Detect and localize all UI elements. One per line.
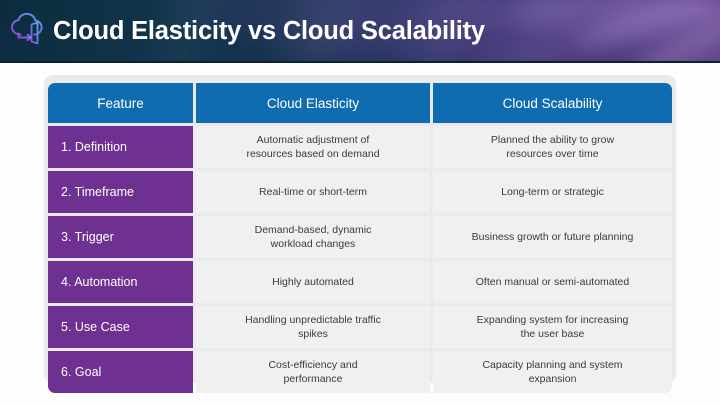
table-row: 1. Definition Automatic adjustment of re…	[48, 126, 672, 168]
table-row: 4. Automation Highly automated Often man…	[48, 261, 672, 303]
row-elasticity-value: Handling unpredictable traffic spikes	[196, 306, 430, 348]
text-line: Handling unpredictable traffic	[245, 313, 381, 327]
row-elasticity-value: Cost-efficiency and performance	[196, 351, 430, 393]
text-line: Cost-efficiency and	[268, 358, 357, 372]
text-line: Automatic adjustment of	[246, 133, 379, 147]
text-line: expansion	[482, 372, 622, 386]
column-header-scalability: Cloud Scalability	[433, 83, 672, 123]
column-header-elasticity: Cloud Elasticity	[196, 83, 430, 123]
table-row: 5. Use Case Handling unpredictable traff…	[48, 306, 672, 348]
page-title: Cloud Elasticity vs Cloud Scalability	[53, 12, 485, 50]
text-line: performance	[268, 372, 357, 386]
text-line: Real-time or short-term	[259, 185, 367, 199]
text-line: workload changes	[255, 237, 372, 251]
row-scalability-value: Often manual or semi-automated	[433, 261, 672, 303]
text-line: resources based on demand	[246, 147, 379, 161]
row-feature-label: 2. Timeframe	[48, 171, 193, 213]
text-line: spikes	[245, 327, 381, 341]
row-scalability-value: Expanding system for increasing the user…	[433, 306, 672, 348]
column-header-feature: Feature	[48, 83, 193, 123]
row-feature-label: 6. Goal	[48, 351, 193, 393]
text-line: the user base	[477, 327, 629, 341]
row-scalability-value: Long-term or strategic	[433, 171, 672, 213]
text-line: Highly automated	[272, 275, 354, 289]
row-feature-label: 1. Definition	[48, 126, 193, 168]
text-line: resources over time	[491, 147, 614, 161]
table-row: 2. Timeframe Real-time or short-term Lon…	[48, 171, 672, 213]
text-line: Demand-based, dynamic	[255, 223, 372, 237]
comparison-table: Feature Cloud Elasticity Cloud Scalabili…	[48, 83, 672, 379]
row-elasticity-value: Highly automated	[196, 261, 430, 303]
row-elasticity-value: Automatic adjustment of resources based …	[196, 126, 430, 168]
text-line: Often manual or semi-automated	[476, 275, 630, 289]
row-feature-label: 4. Automation	[48, 261, 193, 303]
table-row: 6. Goal Cost-efficiency and performance …	[48, 351, 672, 393]
banner-abstract-blobs	[450, 0, 720, 61]
row-feature-label: 3. Trigger	[48, 216, 193, 258]
row-scalability-value: Business growth or future planning	[433, 216, 672, 258]
text-line: Capacity planning and system	[482, 358, 622, 372]
row-feature-label: 5. Use Case	[48, 306, 193, 348]
slide: Cloud Elasticity vs Cloud Scalability Fe…	[0, 0, 720, 405]
row-elasticity-value: Demand-based, dynamic workload changes	[196, 216, 430, 258]
row-scalability-value: Capacity planning and system expansion	[433, 351, 672, 393]
text-line: Planned the ability to grow	[491, 133, 614, 147]
row-elasticity-value: Real-time or short-term	[196, 171, 430, 213]
text-line: Expanding system for increasing	[477, 313, 629, 327]
banner-underline	[0, 61, 720, 63]
cloud-with-arrow-into-door-icon	[6, 10, 50, 52]
table-header-row: Feature Cloud Elasticity Cloud Scalabili…	[48, 83, 672, 123]
row-scalability-value: Planned the ability to grow resources ov…	[433, 126, 672, 168]
table-row: 3. Trigger Demand-based, dynamic workloa…	[48, 216, 672, 258]
text-line: Long-term or strategic	[501, 185, 604, 199]
text-line: Business growth or future planning	[472, 230, 634, 244]
